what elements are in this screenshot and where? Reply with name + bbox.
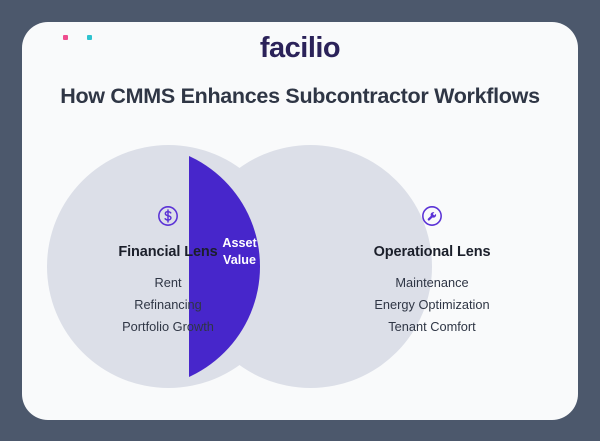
operational-lens-item: Energy Optimization	[332, 294, 532, 316]
financial-lens-item: Portfolio Growth	[68, 316, 268, 338]
intersection-label-line2: Value	[189, 252, 290, 269]
wrench-circle-icon	[421, 205, 443, 227]
operational-lens-group: Operational Lens Maintenance Energy Opti…	[332, 205, 532, 338]
operational-lens-item: Tenant Comfort	[332, 316, 532, 338]
content-card: facilio How CMMS Enhances Subcontractor …	[22, 22, 578, 420]
infographic-canvas: facilio How CMMS Enhances Subcontractor …	[0, 0, 600, 441]
financial-lens-group: Financial Lens Rent Refinancing Portfoli…	[68, 205, 268, 338]
financial-lens-item: Refinancing	[68, 294, 268, 316]
operational-lens-heading: Operational Lens	[332, 244, 532, 260]
operational-lens-item: Maintenance	[332, 272, 532, 294]
financial-lens-item: Rent	[68, 272, 268, 294]
dollar-circle-icon	[157, 205, 179, 227]
intersection-label-line1: Asset	[189, 235, 290, 252]
intersection-label: Asset Value	[189, 235, 290, 268]
